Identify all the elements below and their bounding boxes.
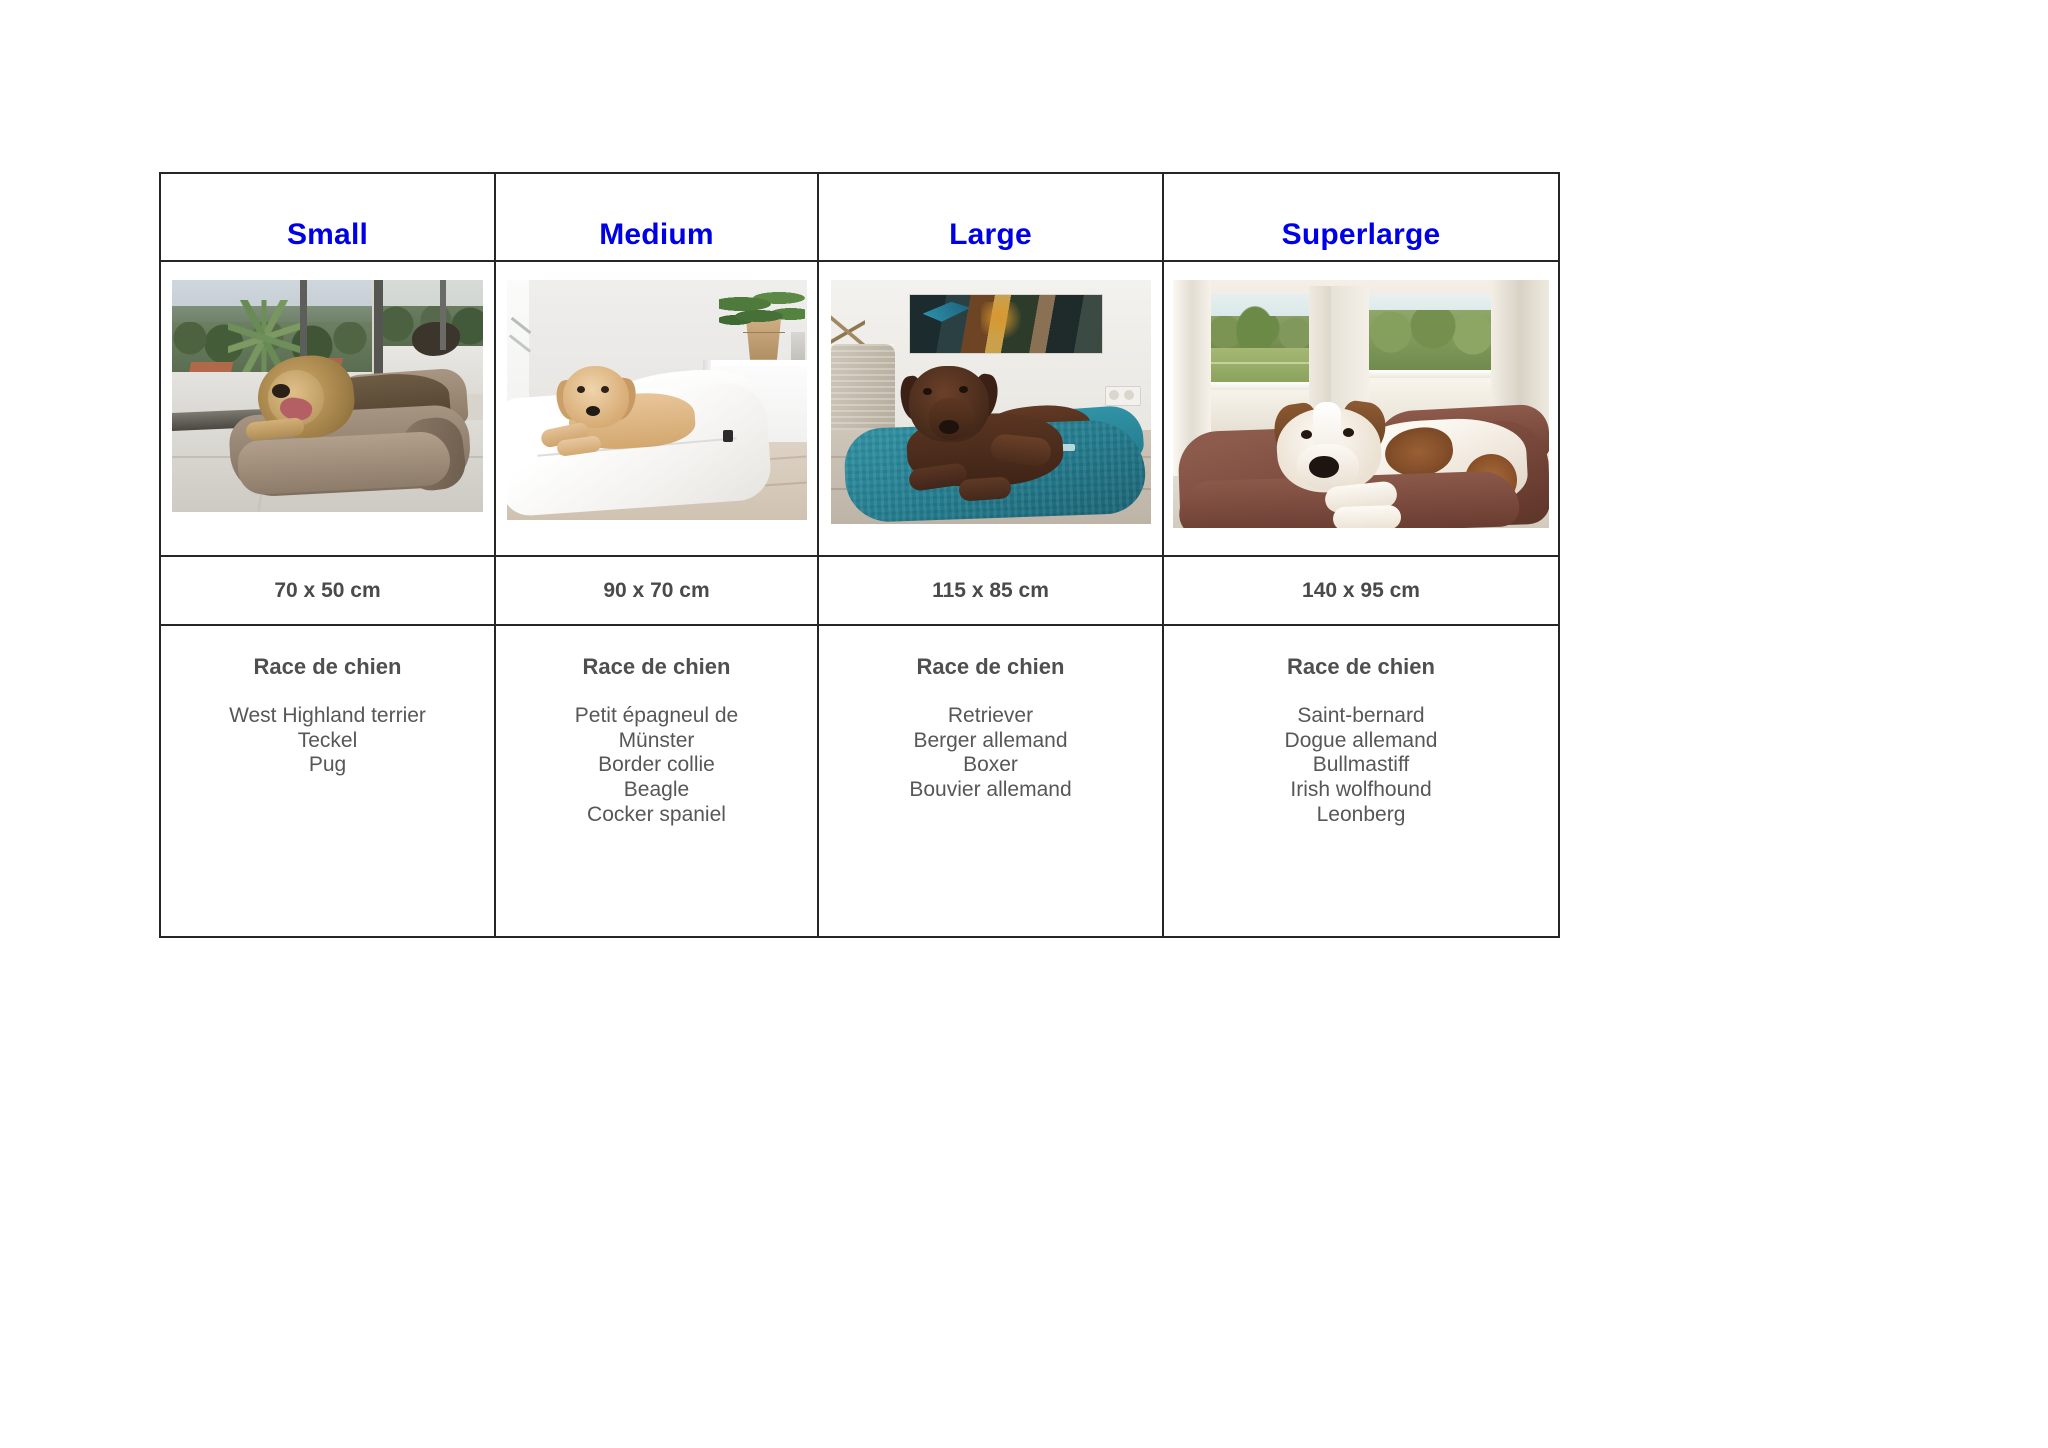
list-item: Petit épagneul de xyxy=(496,704,817,729)
image-cell-small xyxy=(160,261,495,556)
dog-nose xyxy=(272,384,290,398)
saint-bernard-paw-right xyxy=(1333,505,1402,528)
header-cell-small: Small xyxy=(160,173,495,261)
breed-list-large: Retriever Berger allemand Boxer Bouvier … xyxy=(819,704,1162,802)
list-item: Berger allemand xyxy=(819,729,1162,754)
window-mullion-c xyxy=(440,280,446,350)
list-item: Irish wolfhound xyxy=(1164,778,1558,803)
labrador-eye-left xyxy=(923,388,932,395)
table-header-row: Small Medium Large Superlarge xyxy=(160,173,1559,261)
list-item: Boxer xyxy=(819,753,1162,778)
image-cell-large xyxy=(818,261,1163,556)
vase-texture xyxy=(831,344,895,440)
photo-superlarge-saint-bernard-on-brown-bed xyxy=(1173,280,1549,528)
size-header-medium: Medium xyxy=(496,218,817,260)
puppy-head xyxy=(563,366,629,428)
dimensions-cell-small: 70 x 50 cm xyxy=(160,556,495,625)
photo-medium-cockapoo-on-white-bed xyxy=(507,280,807,520)
photo-small-terrier-on-brown-bed xyxy=(172,280,483,512)
photo-wrap-small xyxy=(161,262,494,512)
header-cell-medium: Medium xyxy=(495,173,818,261)
labrador-eye-right xyxy=(959,386,968,393)
size-header-small: Small xyxy=(161,218,494,260)
breed-title-large: Race de chien xyxy=(819,654,1162,680)
dimensions-cell-superlarge: 140 x 95 cm xyxy=(1163,556,1559,625)
candle-holder xyxy=(791,332,805,360)
breeds-cell-superlarge: Race de chien Saint-bernard Dogue allema… xyxy=(1163,625,1559,937)
image-cell-medium xyxy=(495,261,818,556)
photo-wrap-medium xyxy=(496,262,817,520)
size-header-large: Large xyxy=(819,218,1162,260)
table-breeds-row: Race de chien West Highland terrier Teck… xyxy=(160,625,1559,937)
dimensions-medium: 90 x 70 cm xyxy=(496,579,817,602)
dimensions-superlarge: 140 x 95 cm xyxy=(1164,579,1558,602)
garden-lawn xyxy=(1209,348,1309,384)
cushion-label-tag xyxy=(723,430,733,442)
breed-block-medium: Race de chien Petit épagneul de Münster … xyxy=(496,626,817,827)
breed-list-superlarge: Saint-bernard Dogue allemand Bullmastiff… xyxy=(1164,704,1558,827)
table-dimensions-row: 70 x 50 cm 90 x 70 cm 115 x 85 cm 140 x … xyxy=(160,556,1559,625)
labrador-paw-right xyxy=(958,476,1011,502)
list-item: Leonberg xyxy=(1164,803,1558,828)
puppy-eye-right xyxy=(601,386,609,393)
house-plant xyxy=(719,288,805,334)
list-item: Border collie xyxy=(496,753,817,778)
saint-bernard-eye-right xyxy=(1343,428,1354,437)
breed-block-large: Race de chien Retriever Berger allemand … xyxy=(819,626,1162,803)
list-item: Bullmastiff xyxy=(1164,753,1558,778)
artwork-gold-shape xyxy=(981,302,1027,342)
garden-hedge-right xyxy=(1369,310,1493,372)
saint-bernard-nose xyxy=(1309,456,1339,478)
list-item: Beagle xyxy=(496,778,817,803)
breed-list-small: West Highland terrier Teckel Pug xyxy=(161,704,494,778)
labrador-nose xyxy=(939,420,959,434)
list-item: Teckel xyxy=(161,729,494,754)
breed-title-superlarge: Race de chien xyxy=(1164,654,1558,680)
list-item: Pug xyxy=(161,753,494,778)
photo-wrap-superlarge xyxy=(1164,262,1558,528)
sideboard-top xyxy=(703,360,807,366)
lawn-mow-line xyxy=(1209,362,1309,364)
list-item: Saint-bernard xyxy=(1164,704,1558,729)
header-cell-large: Large xyxy=(818,173,1163,261)
list-item: Cocker spaniel xyxy=(496,803,817,828)
list-item: Dogue allemand xyxy=(1164,729,1558,754)
table-image-row xyxy=(160,261,1559,556)
breed-title-medium: Race de chien xyxy=(496,654,817,680)
socket-outlet-a xyxy=(1109,390,1119,400)
breed-block-small: Race de chien West Highland terrier Teck… xyxy=(161,626,494,778)
breed-title-small: Race de chien xyxy=(161,654,494,680)
dog-bed-size-table: Small Medium Large Superlarge xyxy=(159,172,1560,938)
list-item: Retriever xyxy=(819,704,1162,729)
saint-bernard-eye-left xyxy=(1301,430,1312,439)
breeds-cell-large: Race de chien Retriever Berger allemand … xyxy=(818,625,1163,937)
breed-block-superlarge: Race de chien Saint-bernard Dogue allema… xyxy=(1164,626,1558,827)
dimensions-small: 70 x 50 cm xyxy=(161,579,494,602)
puppy-nose xyxy=(586,406,600,416)
photo-large-labrador-on-teal-bed xyxy=(831,280,1151,524)
list-item: Bouvier allemand xyxy=(819,778,1162,803)
list-item: Münster xyxy=(496,729,817,754)
breed-list-medium: Petit épagneul de Münster Border collie … xyxy=(496,704,817,827)
dimensions-cell-large: 115 x 85 cm xyxy=(818,556,1163,625)
dimensions-cell-medium: 90 x 70 cm xyxy=(495,556,818,625)
dog-bed-front-bolster xyxy=(237,430,452,495)
photo-wrap-large xyxy=(819,262,1162,524)
size-header-superlarge: Superlarge xyxy=(1164,218,1558,260)
puppy-eye-left xyxy=(577,386,585,393)
socket-outlet-b xyxy=(1124,390,1134,400)
breeds-cell-medium: Race de chien Petit épagneul de Münster … xyxy=(495,625,818,937)
list-item: West Highland terrier xyxy=(161,704,494,729)
header-cell-superlarge: Superlarge xyxy=(1163,173,1559,261)
breeds-cell-small: Race de chien West Highland terrier Teck… xyxy=(160,625,495,937)
image-cell-superlarge xyxy=(1163,261,1559,556)
dimensions-large: 115 x 85 cm xyxy=(819,579,1162,602)
